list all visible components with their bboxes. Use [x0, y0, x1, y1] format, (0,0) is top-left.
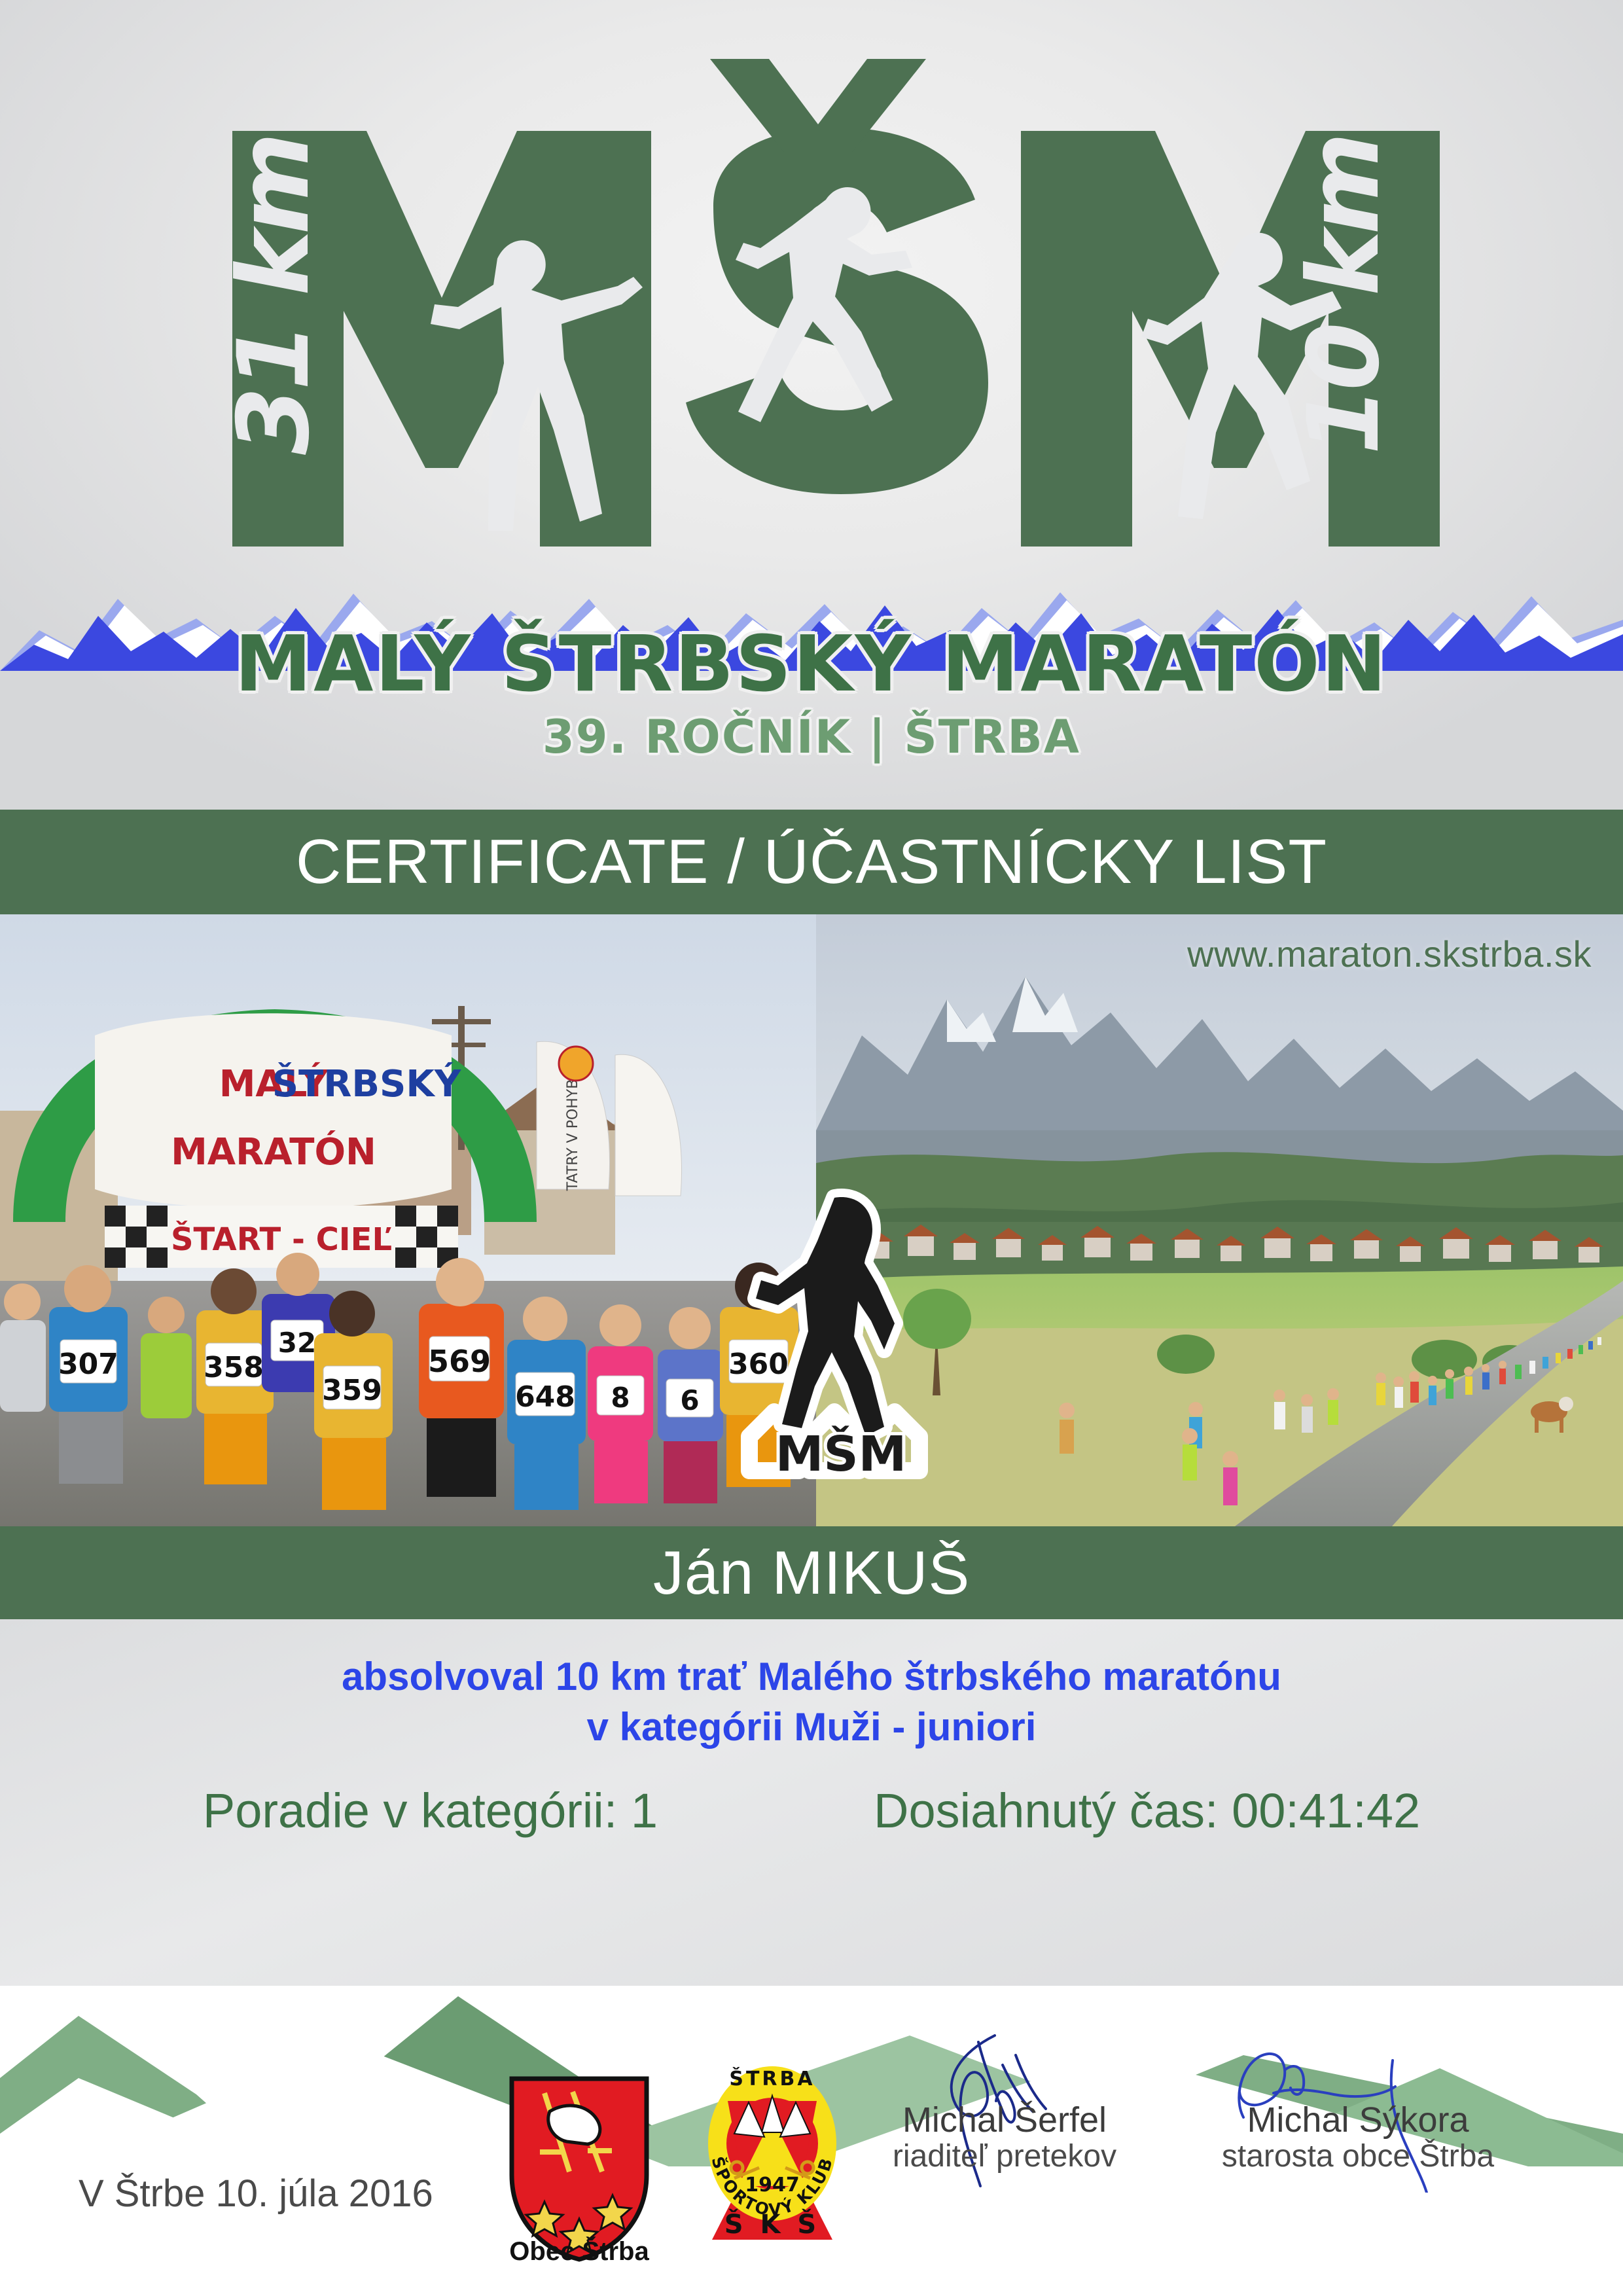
certificate-page: 31 km 10 km MALÝ ŠTRBS [0, 0, 1623, 2296]
badge-year: 1947 [745, 2174, 800, 2197]
badge-abbrev: Š K Š [724, 2208, 820, 2240]
achievement-description: absolvoval 10 km trať Malého štrbského m… [0, 1652, 1623, 1753]
signature-name-director: Michal Šerfel [864, 2101, 1145, 2140]
msm-runner-cutout-icon: MŠM [736, 1175, 946, 1482]
svg-text:TATRY V POHYBE: TATRY V POHYBE [565, 1070, 581, 1191]
signature-block-director: Michal Šerfel riaditeľ pretekov [864, 2101, 1145, 2174]
result-row: Poradie v kategórii: 1 Dosiahnutý čas: 0… [0, 1783, 1623, 1839]
event-subtitle: 39. ROČNÍK | ŠTRBA [0, 710, 1623, 764]
svg-text:31 km: 31 km [217, 136, 331, 455]
participant-name-band: Ján MIKUŠ [0, 1526, 1623, 1619]
certificate-title: CERTIFICATE / ÚČASTNÍCKY LIST [296, 826, 1327, 898]
svg-text:10 km: 10 km [1287, 136, 1401, 455]
svg-text:6: 6 [680, 1384, 699, 1416]
place-and-date: V Štrbe 10. júla 2016 [79, 2172, 433, 2215]
header-logo-area: 31 km 10 km MALÝ ŠTRBS [0, 0, 1623, 810]
participant-name: Ján MIKUŠ [653, 1537, 970, 1608]
signature-name-mayor: Michal Sýkora [1217, 2101, 1499, 2140]
svg-text:307: 307 [58, 1348, 118, 1381]
svg-text:32: 32 [278, 1327, 316, 1359]
svg-text:358: 358 [204, 1351, 264, 1384]
sks-club-badge-icon: 1947 ŠTRBA ŠPORTOVÝ KLUB Š K Š [694, 2055, 851, 2251]
municipality-label: Obec Štrba [497, 2237, 661, 2267]
badge-top-text: ŠTRBA [729, 2066, 815, 2090]
description-line-2: v kategórii Muži - juniori [0, 1702, 1623, 1753]
signature-block-mayor: Michal Sýkora starosta obce Štrba [1217, 2101, 1499, 2174]
svg-text:8: 8 [611, 1382, 630, 1414]
result-area: absolvoval 10 km trať Malého štrbského m… [0, 1619, 1623, 1986]
signature-role-mayor: starosta obce Štrba [1217, 2140, 1499, 2174]
website-url: www.maraton.skstrba.sk [1187, 933, 1592, 975]
svg-text:ŠTART - CIEĽ: ŠTART - CIEĽ [171, 1221, 392, 1258]
footer: V Štrbe 10. júla 2016 [0, 2062, 1623, 2296]
description-line-1: absolvoval 10 km trať Malého štrbského m… [0, 1652, 1623, 1702]
svg-text:359: 359 [322, 1374, 382, 1407]
certificate-title-band: CERTIFICATE / ÚČASTNÍCKY LIST [0, 810, 1623, 914]
event-title: MALÝ ŠTRBSKÝ MARATÓN [0, 619, 1623, 709]
strba-coat-of-arms-icon [504, 2073, 654, 2263]
svg-text:ŠTRBSKÝ: ŠTRBSKÝ [272, 1063, 462, 1105]
msm-wordmark-logo: 31 km 10 km [0, 36, 1623, 553]
race-start-photo: MALÝ ŠTRBSKÝ MARATÓN ŠTART - CIEĽ [0, 914, 816, 1526]
signature-role-director: riaditeľ pretekov [864, 2140, 1145, 2174]
svg-text:MARATÓN: MARATÓN [171, 1131, 376, 1174]
finish-time: Dosiahnutý čas: 00:41:42 [874, 1783, 1420, 1839]
svg-text:648: 648 [515, 1380, 575, 1414]
category-rank: Poradie v kategórii: 1 [203, 1783, 658, 1839]
svg-text:MŠM: MŠM [776, 1425, 907, 1482]
svg-text:569: 569 [428, 1344, 491, 1379]
